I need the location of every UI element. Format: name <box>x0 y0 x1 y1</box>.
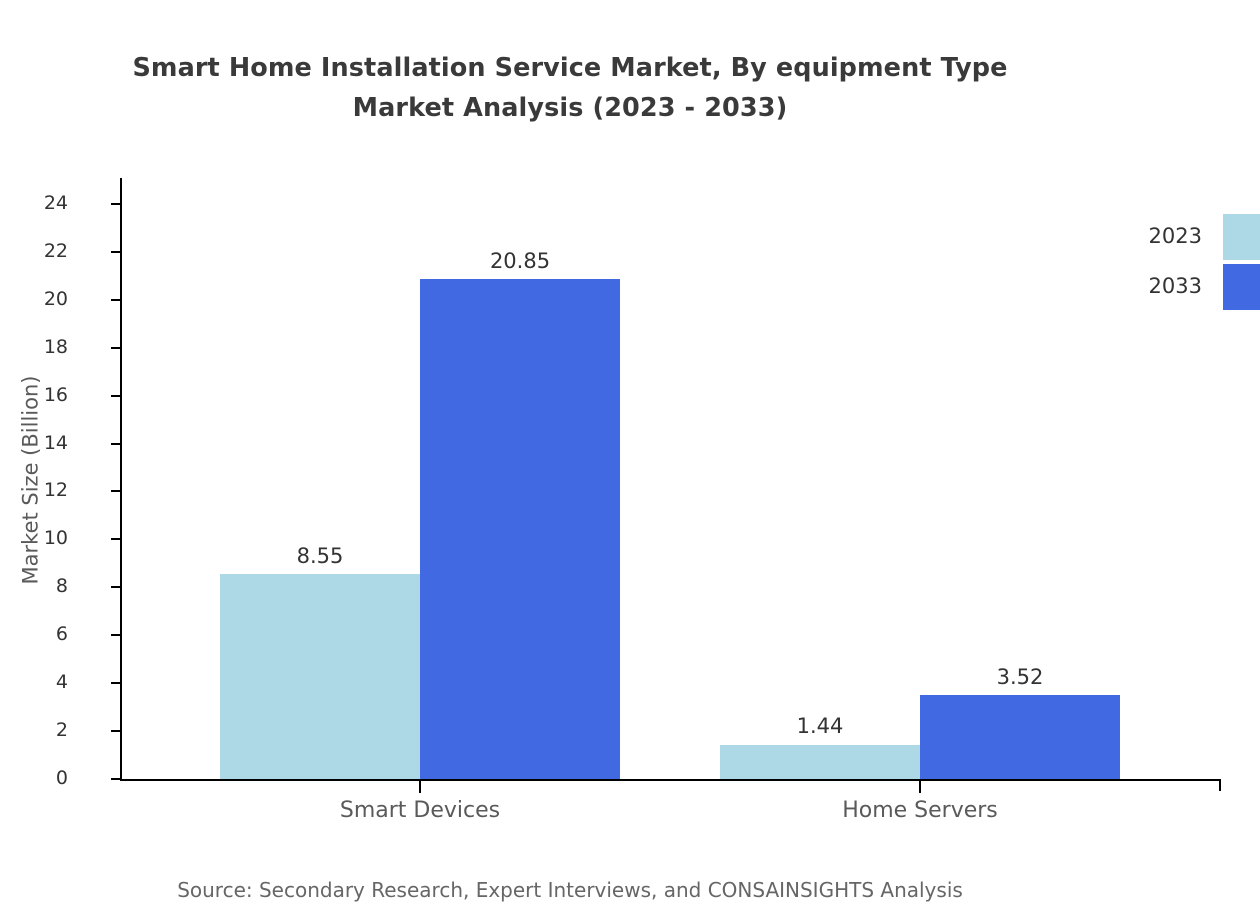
y-tick-label: 10 <box>44 529 68 548</box>
y-tick-4 <box>111 682 120 684</box>
legend-label: 2033 <box>1149 274 1202 298</box>
y-tick-label: 22 <box>44 242 68 261</box>
x-tick <box>919 781 921 793</box>
y-tick-label: 2 <box>56 721 68 740</box>
legend-swatch <box>1223 214 1260 260</box>
y-tick-label: 8 <box>56 577 68 596</box>
y-tick-16 <box>111 395 120 397</box>
y-tick-label: 12 <box>44 481 68 500</box>
x-tick-label-home-servers: Home Servers <box>760 798 1080 823</box>
y-tick-20 <box>111 299 120 301</box>
bar-value-label: 8.55 <box>200 544 440 568</box>
y-tick-8 <box>111 586 120 588</box>
y-tick-24 <box>111 203 120 205</box>
bar-2023-home-servers[interactable] <box>720 745 920 780</box>
chart-title-line-1: Smart Home Installation Service Market, … <box>0 48 1140 88</box>
chart-title: Smart Home Installation Service Market, … <box>0 48 1260 128</box>
y-tick-label: 4 <box>56 673 68 692</box>
plot-area: 024681012141618202224 Smart DevicesHome … <box>120 178 1221 781</box>
y-tick-label: 14 <box>44 434 68 453</box>
legend-label: 2023 <box>1149 224 1202 248</box>
bar-2023-smart-devices[interactable] <box>220 574 420 779</box>
legend-item-2023[interactable]: 2023 <box>1120 214 1260 260</box>
y-tick-2 <box>111 730 120 732</box>
bar-value-label: 1.44 <box>700 714 940 738</box>
x-axis-end-tick <box>1219 779 1221 791</box>
chart-title-line-2: Market Analysis (2023 - 2033) <box>0 88 1140 128</box>
y-tick-label: 18 <box>44 338 68 357</box>
chart-legend: 20232033 <box>1120 214 1260 314</box>
bar-value-label: 20.85 <box>400 249 640 273</box>
chart-figure: Smart Home Installation Service Market, … <box>0 0 1260 920</box>
x-tick-label-smart-devices: Smart Devices <box>260 798 580 823</box>
y-tick-18 <box>111 347 120 349</box>
x-tick <box>419 781 421 793</box>
bar-2033-smart-devices[interactable] <box>420 279 620 779</box>
y-tick-12 <box>111 490 120 492</box>
bar-value-label: 3.52 <box>900 665 1140 689</box>
legend-item-2033[interactable]: 2033 <box>1120 264 1260 310</box>
y-axis-spine <box>120 178 122 781</box>
y-tick-label: 6 <box>56 625 68 644</box>
y-tick-label: 16 <box>44 386 68 405</box>
y-tick-label: 20 <box>44 290 68 309</box>
y-tick-0 <box>111 778 120 780</box>
bar-2033-home-servers[interactable] <box>920 695 1120 779</box>
x-axis-spine <box>120 779 1221 781</box>
y-axis-label-text: Market Size (Billion) <box>18 376 42 585</box>
y-tick-22 <box>111 251 120 253</box>
y-tick-label: 0 <box>56 769 68 788</box>
y-tick-label: 24 <box>44 194 68 213</box>
y-tick-14 <box>111 443 120 445</box>
legend-swatch <box>1223 264 1260 310</box>
y-tick-10 <box>111 538 120 540</box>
source-note: Source: Secondary Research, Expert Inter… <box>0 878 1260 902</box>
y-tick-6 <box>111 634 120 636</box>
